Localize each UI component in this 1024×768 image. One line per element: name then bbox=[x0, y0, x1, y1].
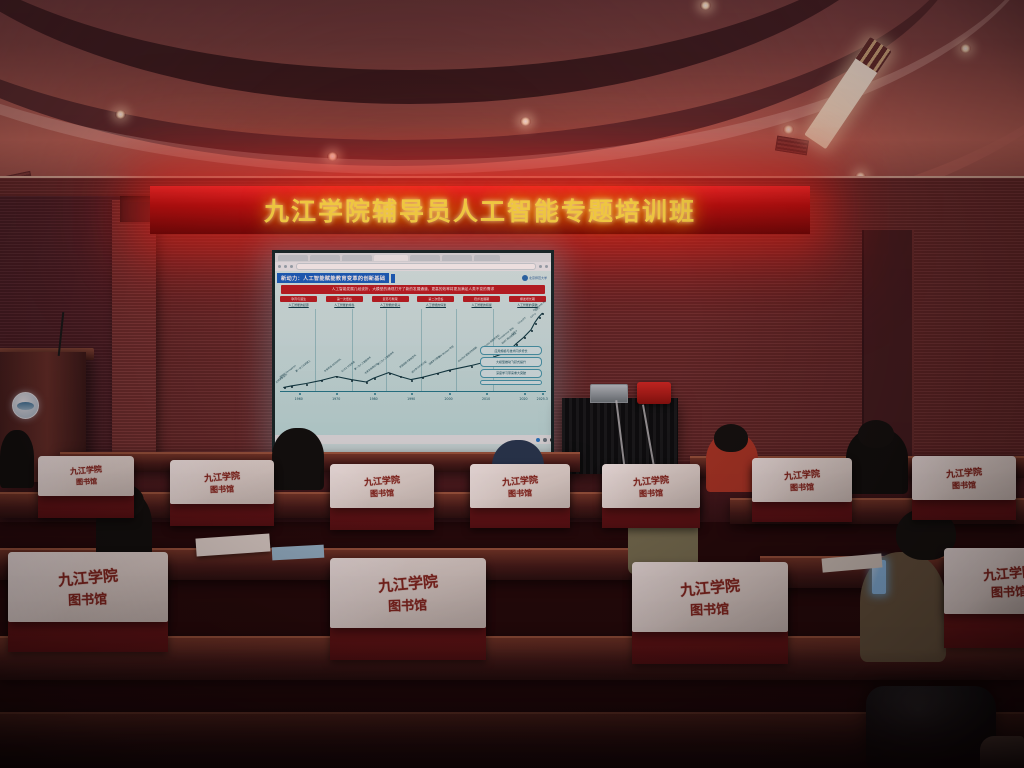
browser-tab[interactable] bbox=[342, 255, 372, 261]
chart-tick bbox=[374, 393, 376, 395]
callout-box-empty bbox=[480, 380, 542, 385]
chair-cover-line1: 九江学院 bbox=[982, 560, 1024, 583]
chart-point bbox=[306, 384, 308, 386]
attendee bbox=[0, 430, 34, 488]
chart-point bbox=[411, 380, 413, 382]
chair-cover: 九江学院 图书馆 bbox=[632, 562, 788, 632]
chair-cover: 九江学院 图书馆 bbox=[752, 458, 852, 502]
chair-cover-line2: 图书馆 bbox=[508, 487, 532, 499]
chair-cover-line1: 九江学院 bbox=[57, 564, 119, 590]
red-bag bbox=[637, 382, 671, 404]
phase-tag: 复苏与繁荣 bbox=[372, 296, 409, 302]
chart-tick bbox=[486, 393, 488, 395]
presenter-laptop bbox=[590, 384, 628, 403]
callout-box: 应用规模与技术同步增长 bbox=[480, 346, 542, 355]
chart-point bbox=[374, 378, 376, 380]
chair-cover-line2: 图书馆 bbox=[370, 487, 394, 499]
phase-tag: 孕育与诞生 bbox=[280, 296, 317, 302]
app-icon[interactable] bbox=[543, 438, 547, 442]
chart-tick bbox=[449, 393, 451, 395]
chair-cover: 九江学院 图书馆 bbox=[330, 558, 486, 628]
foreground-shadow bbox=[0, 648, 1024, 768]
wall-pillar bbox=[112, 200, 156, 490]
chair-cover-line1: 九江学院 bbox=[632, 472, 669, 488]
phase-item: 第二次低谷 人工智能的停滞 bbox=[417, 296, 454, 308]
app-icon[interactable] bbox=[550, 438, 551, 442]
chart-tick bbox=[524, 393, 526, 395]
chart-point bbox=[389, 373, 391, 375]
phase-item: 复苏与繁荣 人工智能的复兴 bbox=[372, 296, 409, 308]
chair-cover-line2: 图书馆 bbox=[68, 588, 108, 608]
chart-x-axis bbox=[280, 391, 546, 392]
chair-cover-line1: 九江学院 bbox=[377, 570, 439, 596]
app-icon[interactable] bbox=[536, 438, 540, 442]
chair-cover: 九江学院 图书馆 bbox=[912, 456, 1016, 500]
chart-point bbox=[471, 366, 473, 368]
chair-cover: 九江学院 图书馆 bbox=[602, 464, 700, 508]
phase-tag: 稳步发展期 bbox=[463, 296, 500, 302]
slide-title-accent bbox=[391, 274, 395, 283]
auditorium-photo: 九江学院辅导员人工智能专题培训班 https://www.example.edu… bbox=[0, 0, 1024, 768]
chart-tick-label: 2020 bbox=[519, 397, 527, 401]
slide-header: 新动力：人工智能赋能教育变革的创新基础 北京师范大学 bbox=[275, 271, 551, 283]
browser-tab[interactable] bbox=[410, 255, 440, 261]
forward-icon[interactable] bbox=[284, 265, 287, 268]
attendee-head bbox=[714, 424, 748, 452]
phase-sub: 人工智能的寒冬 bbox=[326, 304, 363, 308]
chair-cover: 九江学院 图书馆 bbox=[470, 464, 570, 508]
chart-tick-label: 1970 bbox=[332, 397, 340, 401]
chair-cover-line2: 图书馆 bbox=[991, 582, 1024, 600]
chart-point bbox=[539, 317, 541, 319]
browser-tab[interactable] bbox=[474, 255, 500, 261]
chair-cover-line2: 图书馆 bbox=[210, 483, 234, 495]
chair-cover-line2: 图书馆 bbox=[75, 477, 96, 488]
slide-title: 新动力：人工智能赋能教育变革的创新基础 bbox=[277, 273, 389, 283]
chair-cover-line2: 图书馆 bbox=[388, 594, 428, 614]
chart-tick-label: 1990 bbox=[407, 397, 415, 401]
phase-sub: 人工智能的起源 bbox=[280, 304, 317, 308]
chair-cover-line2: 图书馆 bbox=[952, 479, 976, 491]
presentation-slide: 新动力：人工智能赋能教育变革的创新基础 北京师范大学 人工智能发展几经波折，大模… bbox=[275, 271, 551, 444]
ceiling-downlight bbox=[700, 1, 711, 10]
chair-cover-line1: 九江学院 bbox=[783, 466, 820, 482]
chart-point bbox=[535, 323, 537, 325]
chart-point bbox=[531, 330, 533, 332]
browser-tab-strip[interactable] bbox=[275, 253, 551, 262]
chair-cover-line1: 九江学院 bbox=[363, 472, 400, 488]
university-logo-icon bbox=[522, 275, 528, 281]
chair-cover: 九江学院 图书馆 bbox=[8, 552, 168, 622]
chart-point bbox=[449, 370, 451, 372]
phase-tag: 第二次低谷 bbox=[417, 296, 454, 302]
led-banner-text: 九江学院辅导员人工智能专题培训班 bbox=[150, 186, 810, 234]
callout-box: 深度学习带来重大突破 bbox=[480, 369, 542, 378]
chart-tick-label: 2000 bbox=[445, 397, 453, 401]
ceiling-downlight bbox=[960, 44, 971, 53]
paper-sheet bbox=[272, 545, 325, 561]
phase-sub: 人工智能的停滞 bbox=[417, 304, 454, 308]
browser-toolbar[interactable]: https://www.example.edu.cn/course/ai-gen… bbox=[275, 262, 551, 271]
slide-logo: 北京师范大学 bbox=[522, 275, 547, 281]
phase-sub: 人工智能的复兴 bbox=[372, 304, 409, 308]
slide-red-banner: 人工智能发展几经波折，大模型的涌现打开了新的发展通道，更高的效率将更加满足人类不… bbox=[281, 285, 545, 294]
attendee-head bbox=[858, 420, 894, 448]
chart-tick-label: 2025.3 bbox=[537, 397, 548, 401]
callout-box: 大模型推动飞跃式提升 bbox=[480, 357, 542, 366]
browser-tab-active[interactable] bbox=[374, 255, 408, 261]
phase-item: 第一次低谷 人工智能的寒冬 bbox=[326, 296, 363, 308]
podium-emblem-icon bbox=[12, 392, 39, 419]
phase-tag: 第一次低谷 bbox=[326, 296, 363, 302]
chart-tick-label: 1960 bbox=[295, 397, 303, 401]
chair-cover-line1: 九江学院 bbox=[501, 472, 538, 488]
browser-tab[interactable] bbox=[310, 255, 340, 261]
phase-item: 稳步发展期 人工智能的积累 bbox=[463, 296, 500, 308]
chair-cover-line2: 图书馆 bbox=[790, 481, 814, 493]
browser-tab[interactable] bbox=[442, 255, 472, 261]
phase-sub: 人工智能的积累 bbox=[463, 304, 500, 308]
chart-tick bbox=[299, 393, 301, 395]
menu-icon[interactable] bbox=[545, 265, 548, 268]
projection-screen: https://www.example.edu.cn/course/ai-gen… bbox=[272, 250, 554, 456]
chart-tick-label: 1980 bbox=[370, 397, 378, 401]
chart-tick-label: 2010 bbox=[482, 397, 490, 401]
chair-cover: 九江学院 图书馆 bbox=[38, 456, 134, 496]
phase-item: 孕育与诞生 人工智能的起源 bbox=[280, 296, 317, 308]
slide-logo-text: 北京师范大学 bbox=[529, 276, 547, 280]
bookmark-star-icon[interactable] bbox=[539, 265, 542, 268]
led-banner: 九江学院辅导员人工智能专题培训班 bbox=[150, 186, 810, 234]
chair-cover-line2: 图书馆 bbox=[639, 487, 663, 499]
browser-tab[interactable] bbox=[278, 255, 308, 261]
chair-cover-line1: 九江学院 bbox=[203, 468, 240, 484]
chair-cover-line1: 九江学院 bbox=[679, 574, 741, 600]
attendee bbox=[272, 428, 324, 490]
chair-cover: 九江学院 图书馆 bbox=[944, 548, 1024, 614]
chair-cover: 九江学院 图书馆 bbox=[170, 460, 274, 504]
chair-cover: 九江学院 图书馆 bbox=[330, 464, 434, 508]
chart-point bbox=[351, 380, 353, 382]
chair-cover-line2: 图书馆 bbox=[690, 598, 730, 618]
address-bar[interactable]: https://www.example.edu.cn/course/ai-gen… bbox=[296, 263, 536, 270]
ai-timeline-chart: 达特茅斯会议感知机 Perceptron第一台工业机器人专家系统 DENDRAL… bbox=[280, 309, 546, 401]
phase-tag: 爆发增长期 bbox=[509, 296, 546, 302]
chair-cover-line1: 九江学院 bbox=[945, 464, 982, 480]
chair-cover-line1: 九江学院 bbox=[70, 464, 103, 478]
chart-callouts: 应用规模与技术同步增长 大模型推动飞跃式提升 深度学习带来重大突破 bbox=[480, 346, 542, 387]
phase-label-row: 孕育与诞生 人工智能的起源 第一次低谷 人工智能的寒冬 复苏与繁荣 人工智能的复… bbox=[280, 296, 546, 308]
back-icon[interactable] bbox=[278, 265, 281, 268]
reload-icon[interactable] bbox=[290, 265, 293, 268]
